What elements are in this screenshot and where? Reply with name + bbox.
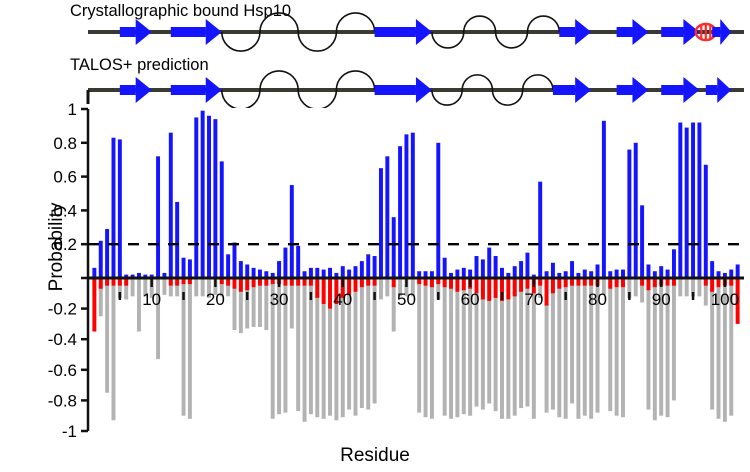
- bar-negative: [583, 278, 587, 416]
- y-tick-label: 0.8: [53, 134, 77, 153]
- bar-positive: [436, 143, 440, 278]
- bar-negative-highlight: [494, 278, 498, 298]
- x-tick-label: 50: [397, 290, 416, 309]
- bar-negative: [188, 278, 192, 419]
- bar-negative-highlight: [315, 278, 319, 298]
- bar-positive: [538, 182, 542, 278]
- bar-negative-highlight: [513, 278, 517, 296]
- negative-bars-gray: [92, 278, 739, 422]
- x-tick-label: 90: [652, 290, 671, 309]
- bar-negative-highlight: [481, 278, 485, 299]
- bar-negative: [685, 278, 689, 296]
- bar-positive: [494, 256, 498, 278]
- bar-negative: [634, 278, 638, 296]
- bar-positive: [341, 266, 345, 278]
- bar-positive: [519, 261, 523, 278]
- bar-negative: [678, 278, 682, 296]
- bar-positive: [551, 263, 555, 278]
- bar-negative: [557, 278, 561, 417]
- bar-positive: [328, 268, 332, 278]
- bar-positive: [182, 258, 186, 278]
- bar-negative-highlight: [462, 278, 466, 290]
- bar-negative: [264, 278, 268, 330]
- bar-positive: [704, 165, 708, 278]
- bar-negative: [315, 278, 319, 417]
- bar-positive: [634, 143, 638, 278]
- y-axis-label: Probability: [46, 187, 68, 307]
- bar-positive: [188, 259, 192, 278]
- bar-positive: [283, 248, 287, 278]
- bar-negative-highlight: [99, 278, 103, 289]
- y-tick-label: -1: [62, 422, 77, 441]
- x-tick-label: 30: [270, 290, 289, 309]
- bar-negative: [615, 278, 619, 416]
- bar-negative: [360, 278, 364, 408]
- bar-negative: [672, 278, 676, 400]
- bar-positive: [207, 116, 211, 278]
- y-tick-label: -0.6: [48, 361, 77, 380]
- figure-root: Crystallographic bound Hsp10 TALOS+ pred…: [0, 0, 750, 472]
- bar-negative: [430, 278, 434, 419]
- bar-positive: [640, 205, 644, 278]
- bar-positive: [245, 264, 249, 278]
- bar-negative: [131, 278, 135, 296]
- bar-negative: [519, 278, 523, 408]
- bar-positive: [118, 139, 122, 278]
- bar-positive: [373, 256, 377, 278]
- bar-negative-highlight: [519, 278, 523, 292]
- bar-negative-highlight: [92, 278, 96, 332]
- bar-positive: [99, 241, 103, 278]
- bar-negative-highlight: [245, 278, 249, 290]
- bar-negative-highlight: [551, 278, 555, 293]
- bar-positive: [366, 254, 370, 278]
- x-tick-label: 100: [711, 290, 739, 309]
- bar-positive: [513, 266, 517, 278]
- bar-positive: [404, 134, 408, 278]
- bar-negative: [105, 278, 109, 393]
- bar-positive: [112, 138, 116, 278]
- bar-positive: [360, 261, 364, 278]
- bar-positive: [92, 268, 96, 278]
- bar-negative-highlight: [449, 278, 453, 289]
- bar-positive: [697, 123, 701, 278]
- bar-positive: [487, 248, 491, 278]
- bar-negative-highlight: [455, 278, 459, 292]
- bar-negative: [162, 278, 166, 295]
- bar-positive: [220, 161, 224, 278]
- bar-negative-highlight: [545, 278, 549, 306]
- bar-positive: [309, 268, 313, 278]
- bar-positive: [462, 268, 466, 278]
- bar-negative-highlight: [233, 278, 237, 289]
- bar-positive: [411, 133, 415, 278]
- bar-negative: [621, 278, 625, 417]
- bar-negative: [570, 278, 574, 403]
- x-tick-label: 80: [588, 290, 607, 309]
- bar-positive: [252, 268, 256, 278]
- bar-negative: [576, 278, 580, 419]
- y-tick-label: 0.6: [53, 168, 77, 187]
- bar-positive: [627, 150, 631, 278]
- bar-negative-highlight: [557, 278, 561, 289]
- bar-positive: [354, 266, 358, 278]
- bar-positive: [156, 156, 160, 278]
- bar-negative: [201, 278, 205, 296]
- bar-positive: [596, 264, 600, 278]
- x-tick-label: 60: [461, 290, 480, 309]
- bar-negative-highlight: [239, 278, 243, 292]
- bar-negative: [449, 278, 453, 419]
- bar-negative: [513, 278, 517, 416]
- bar-positive: [602, 121, 606, 278]
- bar-negative: [385, 278, 389, 296]
- bar-negative-highlight: [525, 278, 529, 289]
- probability-bar-chart: 10.80.60.40.2-0.2-0.4-0.6-0.8-1102030405…: [0, 0, 750, 472]
- x-tick-label: 40: [333, 290, 352, 309]
- bar-positive: [475, 256, 479, 278]
- bar-positive: [226, 254, 230, 278]
- bar-positive: [175, 202, 179, 278]
- bar-positive: [398, 146, 402, 278]
- bar-negative: [494, 278, 498, 411]
- bar-negative: [417, 278, 421, 413]
- bar-positive: [239, 261, 243, 278]
- bar-negative: [697, 278, 701, 296]
- bar-positive: [570, 261, 574, 278]
- bar-negative-highlight: [506, 278, 510, 299]
- y-tick-label: -0.4: [48, 330, 77, 349]
- x-tick-label: 10: [142, 290, 161, 309]
- bar-negative: [443, 278, 447, 416]
- bar-negative: [296, 278, 300, 411]
- bar-negative: [354, 278, 358, 416]
- bar-positive: [201, 111, 205, 278]
- bar-positive: [385, 156, 389, 278]
- bar-positive: [233, 243, 237, 278]
- bar-negative: [455, 278, 459, 417]
- bar-positive: [659, 266, 663, 278]
- bar-negative-highlight: [487, 278, 491, 301]
- positive-bars-blue: [92, 111, 739, 278]
- bar-negative: [424, 278, 428, 417]
- bar-positive: [315, 268, 319, 278]
- bar-negative: [646, 278, 650, 410]
- bar-positive: [105, 229, 109, 278]
- bar-negative-highlight: [322, 278, 326, 304]
- bar-positive: [736, 264, 740, 278]
- bar-positive: [296, 246, 300, 278]
- bar-negative: [137, 278, 141, 332]
- bar-negative: [551, 278, 555, 410]
- bar-positive: [169, 133, 173, 278]
- bar-positive: [481, 259, 485, 278]
- bar-positive: [710, 261, 714, 278]
- bar-positive: [500, 268, 504, 278]
- bar-negative-highlight: [646, 278, 650, 290]
- bar-negative: [608, 278, 612, 411]
- bar-positive: [646, 264, 650, 278]
- bar-positive: [691, 123, 695, 278]
- y-tick-label: 1: [68, 100, 77, 119]
- bar-negative: [379, 278, 383, 299]
- bar-negative-highlight: [354, 278, 358, 292]
- bar-negative: [112, 278, 116, 420]
- bar-positive: [194, 117, 198, 278]
- bar-positive: [277, 261, 281, 278]
- bar-positive: [678, 123, 682, 278]
- bar-negative: [194, 278, 198, 296]
- bar-negative-highlight: [328, 278, 332, 309]
- bar-positive: [379, 168, 383, 278]
- x-tick-label: 20: [206, 290, 225, 309]
- bar-positive: [213, 119, 217, 278]
- bar-positive: [443, 258, 447, 278]
- x-axis-label: Residue: [0, 445, 750, 467]
- y-tick-label: -0.8: [48, 391, 77, 410]
- bar-positive: [290, 185, 294, 278]
- bar-negative-highlight: [608, 278, 612, 289]
- bar-negative: [303, 278, 307, 422]
- x-tick-label: 70: [524, 290, 543, 309]
- bar-positive: [525, 253, 529, 278]
- bar-positive: [672, 249, 676, 278]
- bar-positive: [685, 128, 689, 278]
- bar-negative: [366, 278, 370, 410]
- bar-positive: [392, 217, 396, 278]
